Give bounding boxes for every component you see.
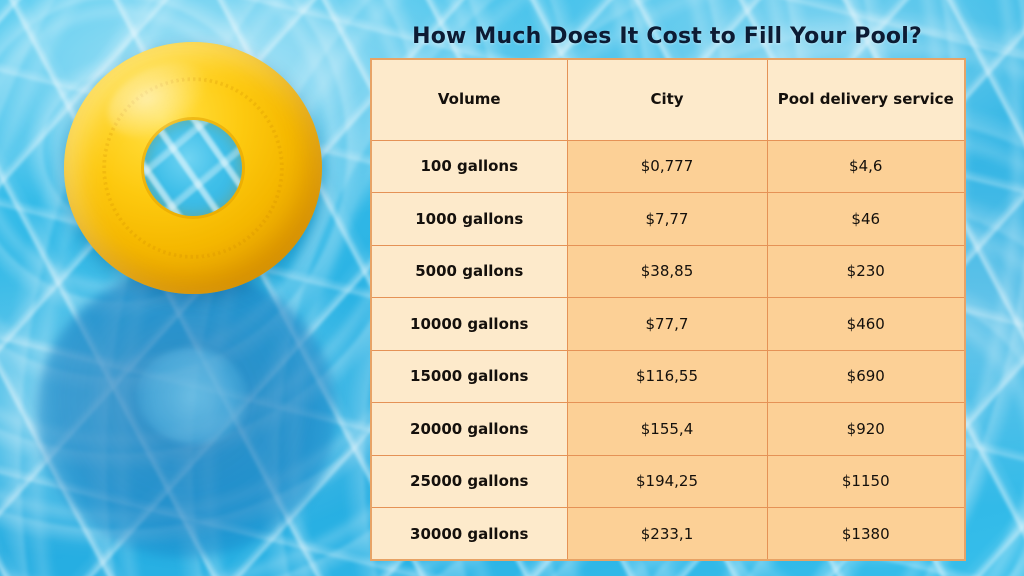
table-row: 20000 gallons $155,4 $920 xyxy=(371,403,965,456)
table-body: 100 gallons $0,777 $4,6 1000 gallons $7,… xyxy=(371,140,965,560)
column-header-city: City xyxy=(567,59,767,140)
cell-city: $7,77 xyxy=(567,193,767,246)
cell-city: $155,4 xyxy=(567,403,767,456)
table-header-row: Volume City Pool delivery service xyxy=(371,59,965,140)
cell-volume: 15000 gallons xyxy=(371,350,567,403)
cell-delivery: $1380 xyxy=(767,508,965,561)
table-row: 100 gallons $0,777 $4,6 xyxy=(371,140,965,193)
cell-city: $116,55 xyxy=(567,350,767,403)
cell-volume: 100 gallons xyxy=(371,140,567,193)
column-header-delivery: Pool delivery service xyxy=(767,59,965,140)
table-row: 30000 gallons $233,1 $1380 xyxy=(371,508,965,561)
table-row: 10000 gallons $77,7 $460 xyxy=(371,298,965,351)
cell-city: $194,25 xyxy=(567,455,767,508)
cell-delivery: $4,6 xyxy=(767,140,965,193)
table-row: 5000 gallons $38,85 $230 xyxy=(371,245,965,298)
cell-delivery: $46 xyxy=(767,193,965,246)
cell-volume: 10000 gallons xyxy=(371,298,567,351)
cell-volume: 25000 gallons xyxy=(371,455,567,508)
table-row: 15000 gallons $116,55 $690 xyxy=(371,350,965,403)
pool-ring-icon xyxy=(64,42,322,294)
cell-city: $0,777 xyxy=(567,140,767,193)
cell-city: $77,7 xyxy=(567,298,767,351)
column-header-volume: Volume xyxy=(371,59,567,140)
table-row: 1000 gallons $7,77 $46 xyxy=(371,193,965,246)
cell-volume: 20000 gallons xyxy=(371,403,567,456)
cell-delivery: $1150 xyxy=(767,455,965,508)
cell-delivery: $460 xyxy=(767,298,965,351)
cell-city: $38,85 xyxy=(567,245,767,298)
page-title: How Much Does It Cost to Fill Your Pool? xyxy=(370,24,964,49)
cell-volume: 30000 gallons xyxy=(371,508,567,561)
table-row: 25000 gallons $194,25 $1150 xyxy=(371,455,965,508)
cell-volume: 1000 gallons xyxy=(371,193,567,246)
pool-cost-table: Volume City Pool delivery service 100 ga… xyxy=(370,58,966,561)
table-header: Volume City Pool delivery service xyxy=(371,59,965,140)
cell-delivery: $230 xyxy=(767,245,965,298)
cell-city: $233,1 xyxy=(567,508,767,561)
cell-volume: 5000 gallons xyxy=(371,245,567,298)
pool-cost-infographic: How Much Does It Cost to Fill Your Pool?… xyxy=(0,0,1024,576)
cell-delivery: $920 xyxy=(767,403,965,456)
cell-delivery: $690 xyxy=(767,350,965,403)
